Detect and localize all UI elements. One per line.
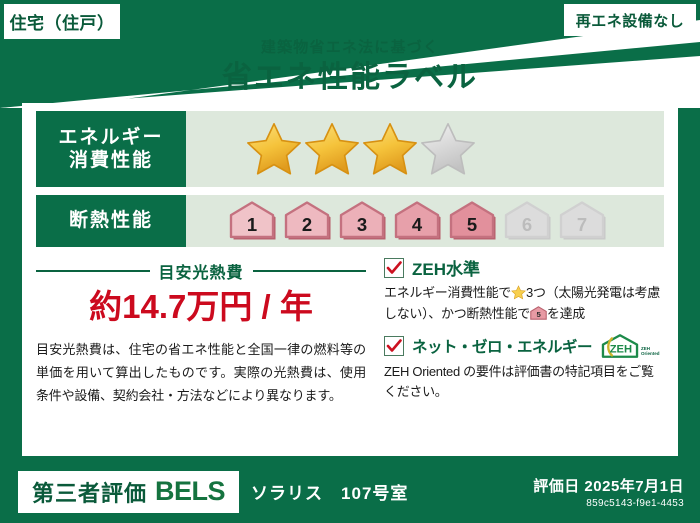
energy-performance-label: 住宅（住戸） 再エネ設備なし 建築物省エネ法に基づく 省エネ性能ラベル エネルギ… xyxy=(0,0,700,523)
bels-badge: 第三者評価 BELS xyxy=(18,471,239,513)
unit-name: ソラリス 107号室 xyxy=(251,479,408,504)
cost-note: 目安光熱費は、住宅の省エネ性能と全国一律の燃料等の単価を用いて算出したものです。… xyxy=(36,339,366,407)
footer-meta: 評価日 2025年7月1日 859c5143-f9e1-4453 xyxy=(533,475,684,509)
check-body-zeh-pre: エネルギー消費性能で xyxy=(384,285,511,300)
zeh-oriented-logo: ZEH ZEH Oriented xyxy=(600,333,660,359)
energy-performance-label: エネルギー 消費性能 xyxy=(36,111,186,187)
content-panel: エネルギー 消費性能 断熱性能 1234567 目安光熱費 約14.7万円 / … xyxy=(22,103,678,456)
svg-text:1: 1 xyxy=(247,214,257,235)
svg-text:ZEH: ZEH xyxy=(610,343,632,355)
bels-en-text: BELS xyxy=(155,476,225,507)
check-block-zeh-standard: ZEH水準 エネルギー消費性能で3つ（太陽光発電は考慮しない）、かつ断熱性能で5… xyxy=(384,255,664,325)
insulation-performance-houses: 1234567 xyxy=(186,195,664,247)
zeh-house-icon: ZEH xyxy=(600,333,640,359)
cost-heading: 目安光熱費 xyxy=(36,259,366,283)
checkbox-net-zero-energy[interactable] xyxy=(384,336,404,356)
inline-star-icon xyxy=(511,285,526,300)
cost-column: 目安光熱費 約14.7万円 / 年 目安光熱費は、住宅の省エネ性能と全国一律の燃… xyxy=(36,255,376,411)
cost-amount: 約14.7万円 / 年 xyxy=(36,289,366,325)
svg-text:6: 6 xyxy=(522,214,532,235)
cost-heading-rule-left xyxy=(36,270,150,272)
star-filled-icon xyxy=(362,121,418,177)
insulation-performance-label: 断熱性能 xyxy=(36,195,186,247)
star-empty-icon xyxy=(420,121,476,177)
insulation-house-empty-icon: 7 xyxy=(556,200,608,242)
label-title-block: 建築物省エネ法に基づく 省エネ性能ラベル xyxy=(0,40,700,96)
insulation-house-filled-icon: 2 xyxy=(281,200,333,242)
check-title-net-zero-energy: ネット・ゼロ・エネルギー xyxy=(412,335,592,357)
svg-text:3: 3 xyxy=(357,214,367,235)
title-main: 省エネ性能ラベル xyxy=(0,59,700,97)
energy-performance-label-line1: エネルギー xyxy=(58,126,163,149)
check-head-net-zero-energy: ネット・ゼロ・エネルギー ZEH ZEH Oriented xyxy=(384,333,664,359)
svg-text:2: 2 xyxy=(302,214,312,235)
insulation-house-filled-icon: 4 xyxy=(391,200,443,242)
check-block-net-zero-energy: ネット・ゼロ・エネルギー ZEH ZEH Oriented xyxy=(384,333,664,404)
tag-building-type: 住宅（住戸） xyxy=(4,4,120,39)
insulation-performance-label-text: 断熱性能 xyxy=(69,209,153,232)
evaluation-date: 評価日 2025年7月1日 xyxy=(533,475,684,496)
tag-renewable-equipment: 再エネ設備なし xyxy=(564,4,696,36)
insulation-performance-row: 断熱性能 1234567 xyxy=(36,195,664,247)
inline-house-grade-icon: 5 xyxy=(530,306,547,320)
bels-jp-text: 第三者評価 xyxy=(32,476,147,508)
lower-section: 目安光熱費 約14.7万円 / 年 目安光熱費は、住宅の省エネ性能と全国一律の燃… xyxy=(36,255,664,411)
svg-text:7: 7 xyxy=(577,214,587,235)
zeh-oriented-tag-line2: Oriented xyxy=(641,351,660,356)
insulation-house-filled-icon: 5 xyxy=(446,200,498,242)
star-filled-icon xyxy=(304,121,360,177)
svg-text:5: 5 xyxy=(467,214,477,235)
check-icon xyxy=(386,338,402,354)
insulation-house-empty-icon: 6 xyxy=(501,200,553,242)
star-filled-icon xyxy=(246,121,302,177)
check-head-zeh-standard: ZEH水準 xyxy=(384,255,664,280)
energy-performance-label-line2: 消費性能 xyxy=(69,149,153,172)
check-icon xyxy=(386,260,402,276)
footer-bar: 第三者評価 BELS ソラリス 107号室 評価日 2025年7月1日 859c… xyxy=(0,460,700,523)
energy-performance-stars xyxy=(186,111,664,187)
insulation-house-filled-icon: 3 xyxy=(336,200,388,242)
check-title-zeh-standard: ZEH水準 xyxy=(412,255,480,280)
cost-heading-text: 目安光熱費 xyxy=(159,259,244,283)
check-body-zeh-standard: エネルギー消費性能で3つ（太陽光発電は考慮しない）、かつ断熱性能で5を達成 xyxy=(384,283,664,325)
cost-heading-rule-right xyxy=(253,270,367,272)
title-subtitle: 建築物省エネ法に基づく xyxy=(0,40,700,57)
certification-column: ZEH水準 エネルギー消費性能で3つ（太陽光発電は考慮しない）、かつ断熱性能で5… xyxy=(376,255,664,411)
document-id: 859c5143-f9e1-4453 xyxy=(533,498,684,509)
zeh-oriented-tag: ZEH Oriented xyxy=(641,346,660,358)
insulation-house-filled-icon: 1 xyxy=(226,200,278,242)
check-body-net-zero-energy: ZEH Oriented の要件は評価書の特記項目をご覧ください。 xyxy=(384,362,664,404)
energy-performance-row: エネルギー 消費性能 xyxy=(36,111,664,187)
check-body-zeh-post: を達成 xyxy=(547,306,585,321)
checkbox-zeh-standard[interactable] xyxy=(384,258,404,278)
svg-text:4: 4 xyxy=(412,214,423,235)
